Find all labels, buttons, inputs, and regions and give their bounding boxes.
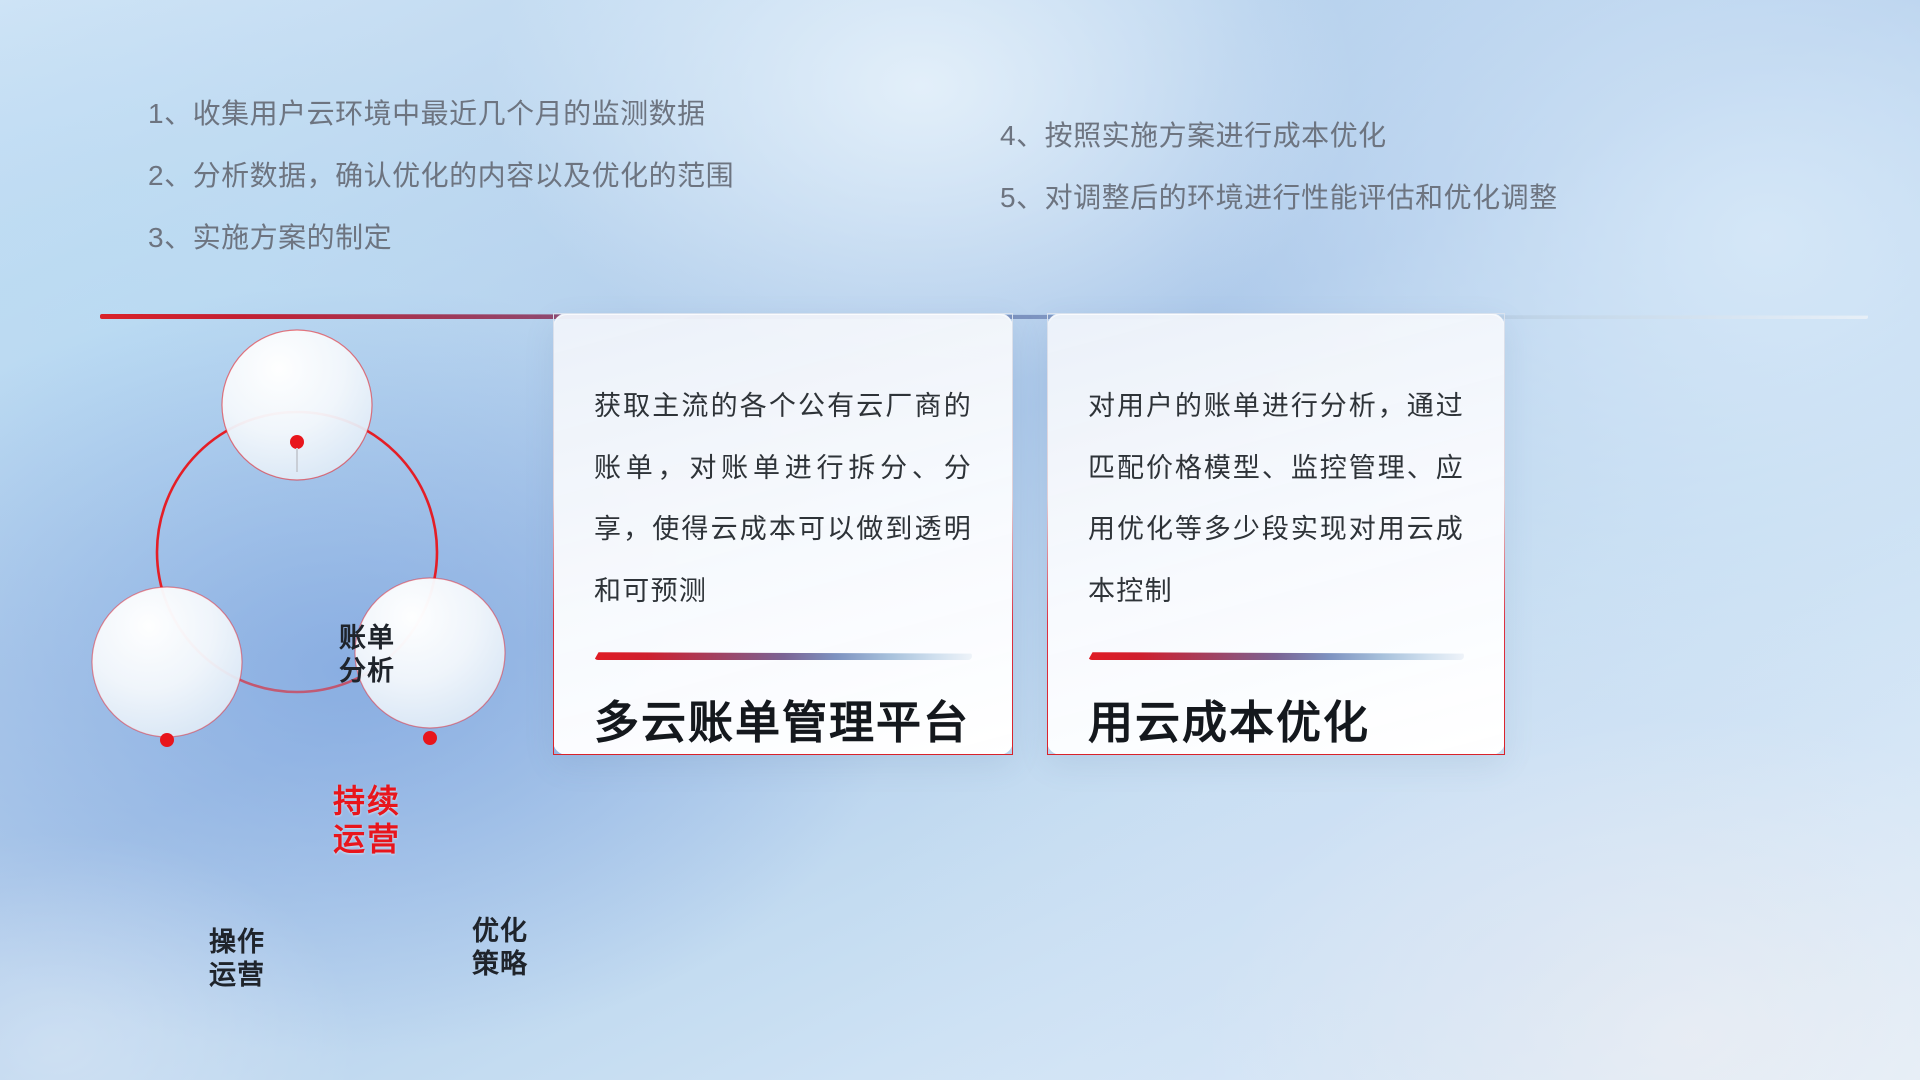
feature-card-multicloud-billing[interactable]: 获取主流的各个公有云厂商的账单，对账单进行拆分、分享，使得云成本可以做到透明和可… (553, 313, 1013, 755)
feature-card-cloud-cost-optimization[interactable]: 对用户的账单进行分析，通过匹配价格模型、监控管理、应用优化等多少段实现对用云成本… (1047, 313, 1505, 755)
bubble-label-operations: 操作 运营 (162, 926, 312, 992)
step-item: 3、实施方案的制定 (148, 224, 734, 252)
bubble-label-line: 策略 (425, 948, 575, 981)
node-dot-left (160, 733, 174, 747)
slide-canvas: 1、收集用户云环境中最近几个月的监测数据 2、分析数据，确认优化的内容以及优化的… (0, 0, 1920, 1080)
card-title: 用云成本优化 (1048, 696, 1504, 750)
step-item: 4、按照实施方案进行成本优化 (1000, 122, 1558, 150)
node-dot-top (290, 435, 304, 449)
step-item: 5、对调整后的环境进行性能评估和优化调整 (1000, 184, 1558, 212)
center-label-continuous-operation: 持续 运营 (292, 782, 442, 859)
node-dot-right (423, 731, 437, 745)
steps-list-left: 1、收集用户云环境中最近几个月的监测数据 2、分析数据，确认优化的内容以及优化的… (148, 100, 734, 252)
bubble-left-circle (92, 587, 242, 737)
bubble-label-line: 运营 (162, 959, 312, 992)
steps-list-right: 4、按照实施方案进行成本优化 5、对调整后的环境进行性能评估和优化调整 (1000, 122, 1558, 212)
bubble-label-line: 优化 (425, 915, 575, 948)
card-body-text: 对用户的账单进行分析，通过匹配价格模型、监控管理、应用优化等多少段实现对用云成本… (1048, 314, 1504, 622)
card-divider (1088, 652, 1464, 660)
continuous-operation-diagram: 账单 分析 操作 运营 优化 策略 持续 运营 (70, 290, 590, 790)
bubble-right-circle (355, 578, 505, 728)
bubble-label-optimization-strategy: 优化 策略 (425, 915, 575, 981)
card-body-text: 获取主流的各个公有云厂商的账单，对账单进行拆分、分享，使得云成本可以做到透明和可… (554, 314, 1012, 622)
center-label-line: 运营 (292, 820, 442, 858)
card-title: 多云账单管理平台 (554, 696, 1012, 750)
card-divider (594, 652, 972, 660)
step-item: 1、收集用户云环境中最近几个月的监测数据 (148, 100, 734, 128)
step-item: 2、分析数据，确认优化的内容以及优化的范围 (148, 162, 734, 190)
bubble-label-line: 操作 (162, 926, 312, 959)
